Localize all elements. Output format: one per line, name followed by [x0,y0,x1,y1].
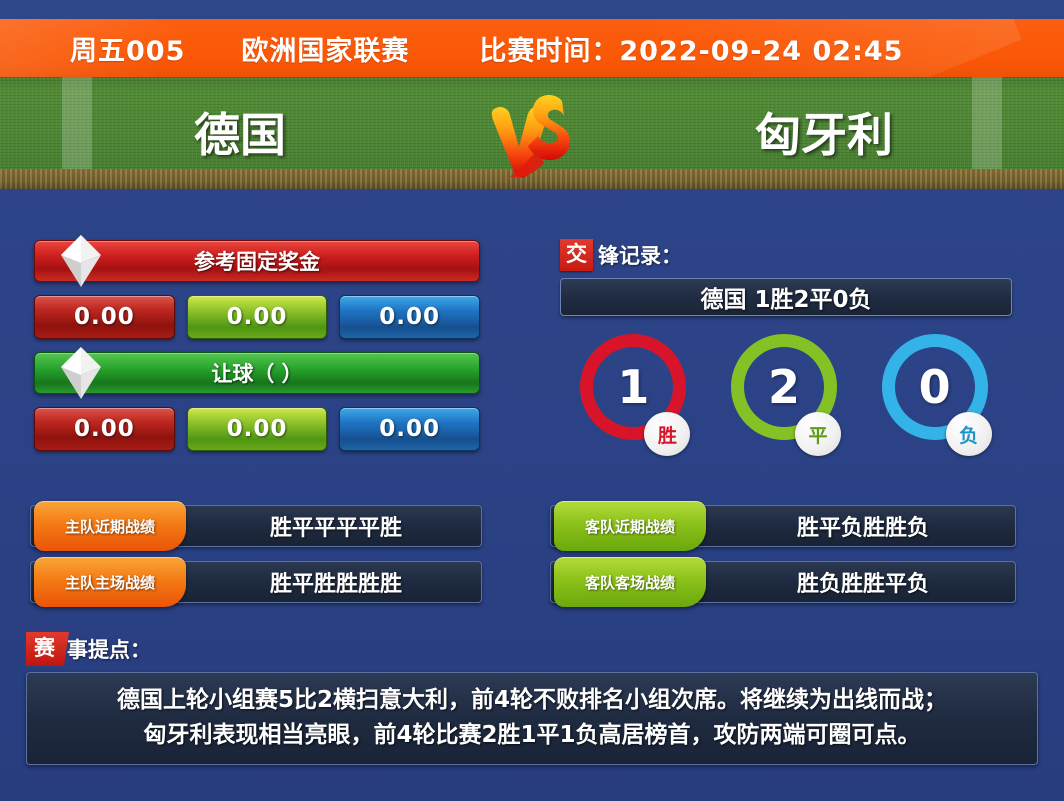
away-recent-form-row: 客队近期战绩 胜平负胜胜负 [550,505,1016,547]
home-form-panel: 主队近期战绩 胜平平平平胜 主队主场战绩 胜平胜胜胜胜 [30,505,482,617]
teams-banner: 德国 匈牙利 [0,77,1064,189]
away-recent-form-value: 胜平负胜胜负 [710,505,1016,547]
match-notes-panel: 赛 事提点： 德国上轮小组赛5比2横扫意大利，前4轮不败排名小组次席。将继续为出… [26,632,1038,765]
match-notes-line-1: 德国上轮小组赛5比2横扫意大利，前4轮不败排名小组次席。将继续为出线而战； [45,683,1019,718]
fixed-odd-lose[interactable]: 0.00 [339,295,480,339]
away-recent-form-tag: 客队近期战绩 [554,501,706,551]
match-notes-tag: 赛 [26,632,69,666]
home-recent-form-label: 主队近期战绩 [65,516,155,537]
match-notes-body: 德国上轮小组赛5比2横扫意大利，前4轮不败排名小组次席。将继续为出线而战； 匈牙… [26,672,1038,765]
home-recent-form-row: 主队近期战绩 胜平平平平胜 [30,505,482,547]
away-away-form-value: 胜负胜胜平负 [710,561,1016,603]
head-to-head-heading: 交 锋记录： [560,240,1012,270]
fixed-bonus-title: 参考固定奖金 [194,246,320,276]
home-home-form-tag: 主队主场战绩 [34,557,186,607]
win-count: 1 [617,360,649,414]
h2h-circle-win: 1 胜 [576,334,694,456]
head-to-head-tag: 交 [560,239,593,271]
lose-label-badge: 负 [946,412,992,456]
head-to-head-panel: 交 锋记录： 德国 1胜2平0负 1 胜 2 平 0 负 [560,240,1012,456]
home-team-name: 德国 [0,99,480,165]
fixed-odds-row: 0.00 0.00 0.00 [34,295,480,339]
odds-panel: 参考固定奖金 0.00 0.00 0.00 让球（ ） 0.00 0.00 0.… [34,240,480,464]
away-away-form-label: 客队客场战绩 [585,572,675,593]
handicap-title: 让球（ ） [211,358,302,388]
handicap-odds-row: 0.00 0.00 0.00 [34,407,480,451]
match-number: 周五005 [70,29,185,68]
handicap-title-bar: 让球（ ） [34,352,480,394]
match-preview-card: 周五005 欧洲国家联赛 比赛时间：2022-09-24 02:45 德国 匈牙… [0,0,1064,801]
match-notes-line-2: 匈牙利表现相当亮眼，前4轮比赛2胜1平1负高居榜首，攻防两端可圈可点。 [45,718,1019,753]
head-to-head-circles: 1 胜 2 平 0 负 [560,334,1012,456]
match-time-label: 比赛时间：2022-09-24 02:45 [479,29,903,68]
away-form-panel: 客队近期战绩 胜平负胜胜负 客队客场战绩 胜负胜胜平负 [550,505,1016,617]
h2h-circle-lose: 0 负 [878,334,996,456]
fixed-odd-win[interactable]: 0.00 [34,295,175,339]
draw-count: 2 [768,360,800,414]
fixed-odd-draw[interactable]: 0.00 [187,295,328,339]
fixed-bonus-title-bar: 参考固定奖金 [34,240,480,282]
diamond-gem-icon [59,345,103,401]
handicap-odd-lose[interactable]: 0.00 [339,407,480,451]
home-recent-form-tag: 主队近期战绩 [34,501,186,551]
handicap-odd-win[interactable]: 0.00 [34,407,175,451]
league-name: 欧洲国家联赛 [241,29,409,68]
match-header-bar: 周五005 欧洲国家联赛 比赛时间：2022-09-24 02:45 [0,19,1064,77]
away-team-name: 匈牙利 [584,99,1064,165]
away-recent-form-label: 客队近期战绩 [585,516,675,537]
away-away-form-row: 客队客场战绩 胜负胜胜平负 [550,561,1016,603]
match-notes-heading: 赛 事提点： [26,632,1038,666]
head-to-head-title: 锋记录： [598,240,682,270]
away-away-form-tag: 客队客场战绩 [554,557,706,607]
home-home-form-label: 主队主场战绩 [65,572,155,593]
lose-count: 0 [919,360,951,414]
match-notes-title: 事提点： [67,634,151,664]
head-to-head-summary: 德国 1胜2平0负 [560,278,1012,316]
win-label-badge: 胜 [644,412,690,456]
home-recent-form-value: 胜平平平平胜 [190,505,482,547]
h2h-circle-draw: 2 平 [727,334,845,456]
handicap-odd-draw[interactable]: 0.00 [187,407,328,451]
diamond-gem-icon [59,233,103,289]
home-home-form-value: 胜平胜胜胜胜 [190,561,482,603]
vs-flame-icon [478,87,586,187]
draw-label-badge: 平 [795,412,841,456]
home-home-form-row: 主队主场战绩 胜平胜胜胜胜 [30,561,482,603]
